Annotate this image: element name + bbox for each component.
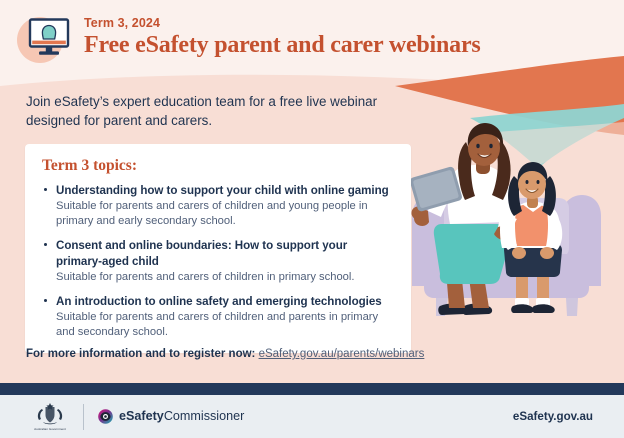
woman-and-girl-taking-selfie-on-couch xyxy=(404,120,624,346)
topics-list: Understanding how to support your child … xyxy=(42,183,395,340)
topic-description: Suitable for parents and carers of child… xyxy=(56,199,395,229)
topic-title: Understanding how to support your child … xyxy=(56,183,395,198)
webinar-poster: Term 3, 2024 Free eSafety parent and car… xyxy=(0,0,624,438)
poster-header: Term 3, 2024 Free eSafety parent and car… xyxy=(0,0,624,72)
footer-url: eSafety.gov.au xyxy=(513,410,593,423)
brand-light: Commissioner xyxy=(164,409,244,423)
topic-title: An introduction to online safety and eme… xyxy=(56,294,395,309)
list-item: An introduction to online safety and eme… xyxy=(42,294,395,340)
page-title: Free eSafety parent and carer webinars xyxy=(84,32,481,59)
webinar-monitor-icon xyxy=(28,18,70,58)
bullet-icon xyxy=(44,243,47,246)
register-line: For more information and to register now… xyxy=(26,347,424,362)
topics-card-title: Term 3 topics: xyxy=(42,157,395,174)
australian-government-crest: Australian Government xyxy=(31,402,69,432)
register-label: For more information and to register now… xyxy=(26,348,255,360)
footer-divider xyxy=(83,404,84,430)
list-item: Consent and online boundaries: How to su… xyxy=(42,238,395,285)
register-link[interactable]: eSafety.gov.au/parents/webinars xyxy=(259,348,425,360)
header-icon-wrapper xyxy=(16,8,74,64)
crest-caption: Australian Government xyxy=(34,427,66,431)
bullet-icon xyxy=(44,188,47,191)
topic-description: Suitable for parents and carers of child… xyxy=(56,310,395,340)
esafety-commissioner-wordmark: eSafetyCommissioner xyxy=(119,410,244,423)
page-footer: Australian Government eSafetyComm xyxy=(0,395,624,438)
bullet-icon xyxy=(44,299,47,302)
topics-card: Term 3 topics: Understanding how to supp… xyxy=(25,144,411,353)
esafety-eye-logo xyxy=(98,409,113,424)
term-eyebrow: Term 3, 2024 xyxy=(84,16,481,31)
header-text-block: Term 3, 2024 Free eSafety parent and car… xyxy=(84,14,481,59)
topic-description: Suitable for parents and carers of child… xyxy=(56,270,395,285)
topic-title: Consent and online boundaries: How to su… xyxy=(56,238,395,269)
brand-bold: eSafety xyxy=(119,409,164,423)
navy-divider-bar xyxy=(0,383,624,395)
intro-paragraph: Join eSafety’s expert education team for… xyxy=(26,92,418,131)
list-item: Understanding how to support your child … xyxy=(42,183,395,229)
